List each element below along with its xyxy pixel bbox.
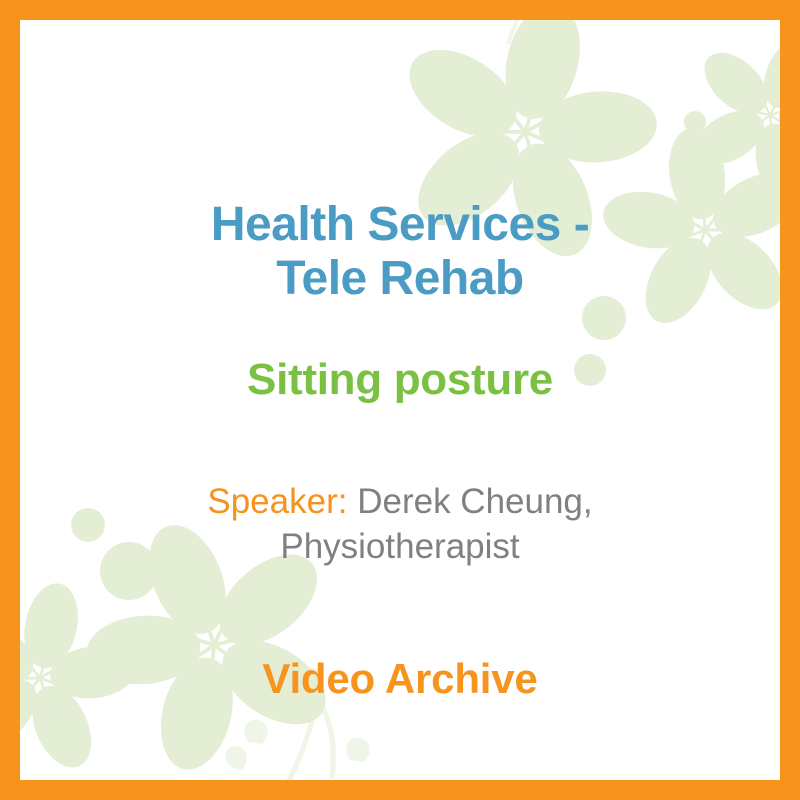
speaker-block: Speaker: Derek Cheung, Physiotherapist (120, 480, 680, 570)
speaker-label: Speaker: (207, 482, 347, 521)
video-archive-label: Video Archive (80, 655, 720, 703)
page-title: Health Services - Tele Rehab (80, 198, 720, 306)
slide-subtitle: Sitting posture (80, 356, 720, 404)
slide-content: Health Services - Tele Rehab Sitting pos… (0, 0, 800, 800)
slide-canvas: Health Services - Tele Rehab Sitting pos… (0, 0, 800, 800)
